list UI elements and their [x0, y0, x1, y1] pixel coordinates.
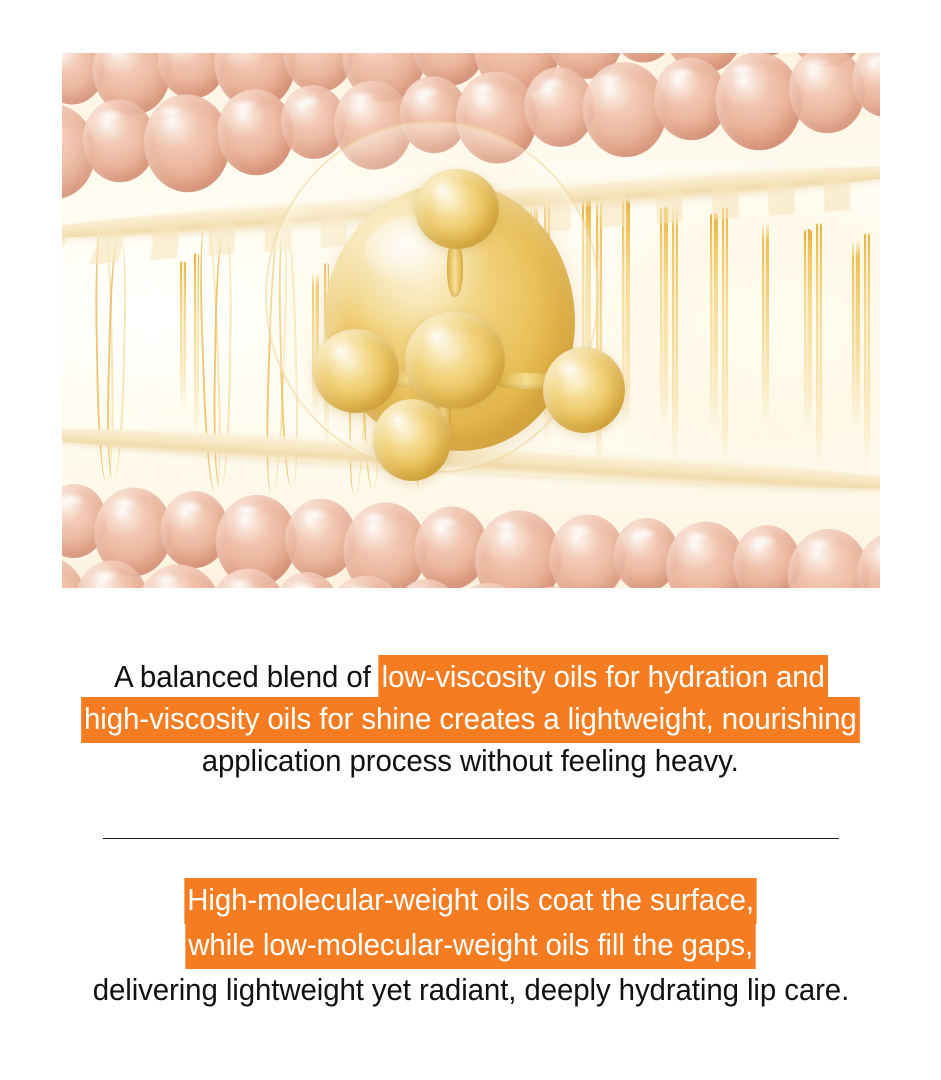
paragraph-one-line-2-highlight: high-viscosity oils for shine creates a …: [81, 697, 859, 743]
oil-filament: [722, 207, 728, 465]
oil-filament: [180, 261, 186, 411]
oil-filament: [194, 253, 199, 435]
paragraph-one-line-1: A balanced blend of low-viscosity oils f…: [0, 657, 941, 698]
paragraph-two-line-3-plain: delivering lightweight yet radiant, deep…: [92, 968, 848, 1013]
paragraph-two-line-1: High-molecular-weight oils coat the surf…: [0, 878, 941, 923]
paragraph-two-line-2-highlight: while low-molecular-weight oils fill the…: [185, 923, 756, 969]
oil-droplet-center: [405, 311, 505, 409]
oil-molecule-cluster: [307, 161, 667, 501]
paragraph-one-line-3: application process without feeling heav…: [0, 741, 941, 782]
paragraph-two-line-3: delivering lightweight yet radiant, deep…: [0, 968, 941, 1013]
paragraph-one: A balanced blend of low-viscosity oils f…: [0, 657, 941, 782]
oil-filament: [864, 233, 870, 465]
oil-filament: [816, 223, 822, 467]
oil-filament: [762, 221, 769, 426]
oil-filament: [852, 239, 860, 429]
oil-droplet-left: [313, 329, 399, 413]
oil-filament: [672, 201, 678, 463]
skin-cell-bubble: [133, 562, 225, 588]
oil-droplet-top: [415, 169, 499, 249]
skin-cell-bubble: [272, 570, 341, 588]
oil-droplet-right: [543, 347, 625, 433]
hero-product-illustration: [62, 53, 880, 588]
section-divider: [103, 838, 839, 839]
oil-filament: [710, 213, 718, 428]
paragraph-two: High-molecular-weight oils coat the surf…: [0, 878, 941, 1013]
oil-filament: [804, 229, 812, 429]
skin-cell-bubble: [73, 558, 151, 588]
paragraph-one-line-2: high-viscosity oils for shine creates a …: [0, 698, 941, 741]
oil-droplet-bottom: [373, 399, 451, 481]
skin-cell-bubble: [207, 566, 288, 588]
skin-cell-bubble: [855, 531, 880, 588]
paragraph-one-line-1-highlight: low-viscosity oils for hydration and: [378, 655, 827, 701]
paragraph-two-line-1-highlight: High-molecular-weight oils coat the surf…: [184, 878, 756, 924]
paragraph-one-line-3-plain: application process without feeling heav…: [202, 741, 739, 782]
paragraph-two-line-2: while low-molecular-weight oils fill the…: [0, 923, 941, 968]
paragraph-one-line-1-plain: A balanced blend of: [114, 660, 379, 694]
